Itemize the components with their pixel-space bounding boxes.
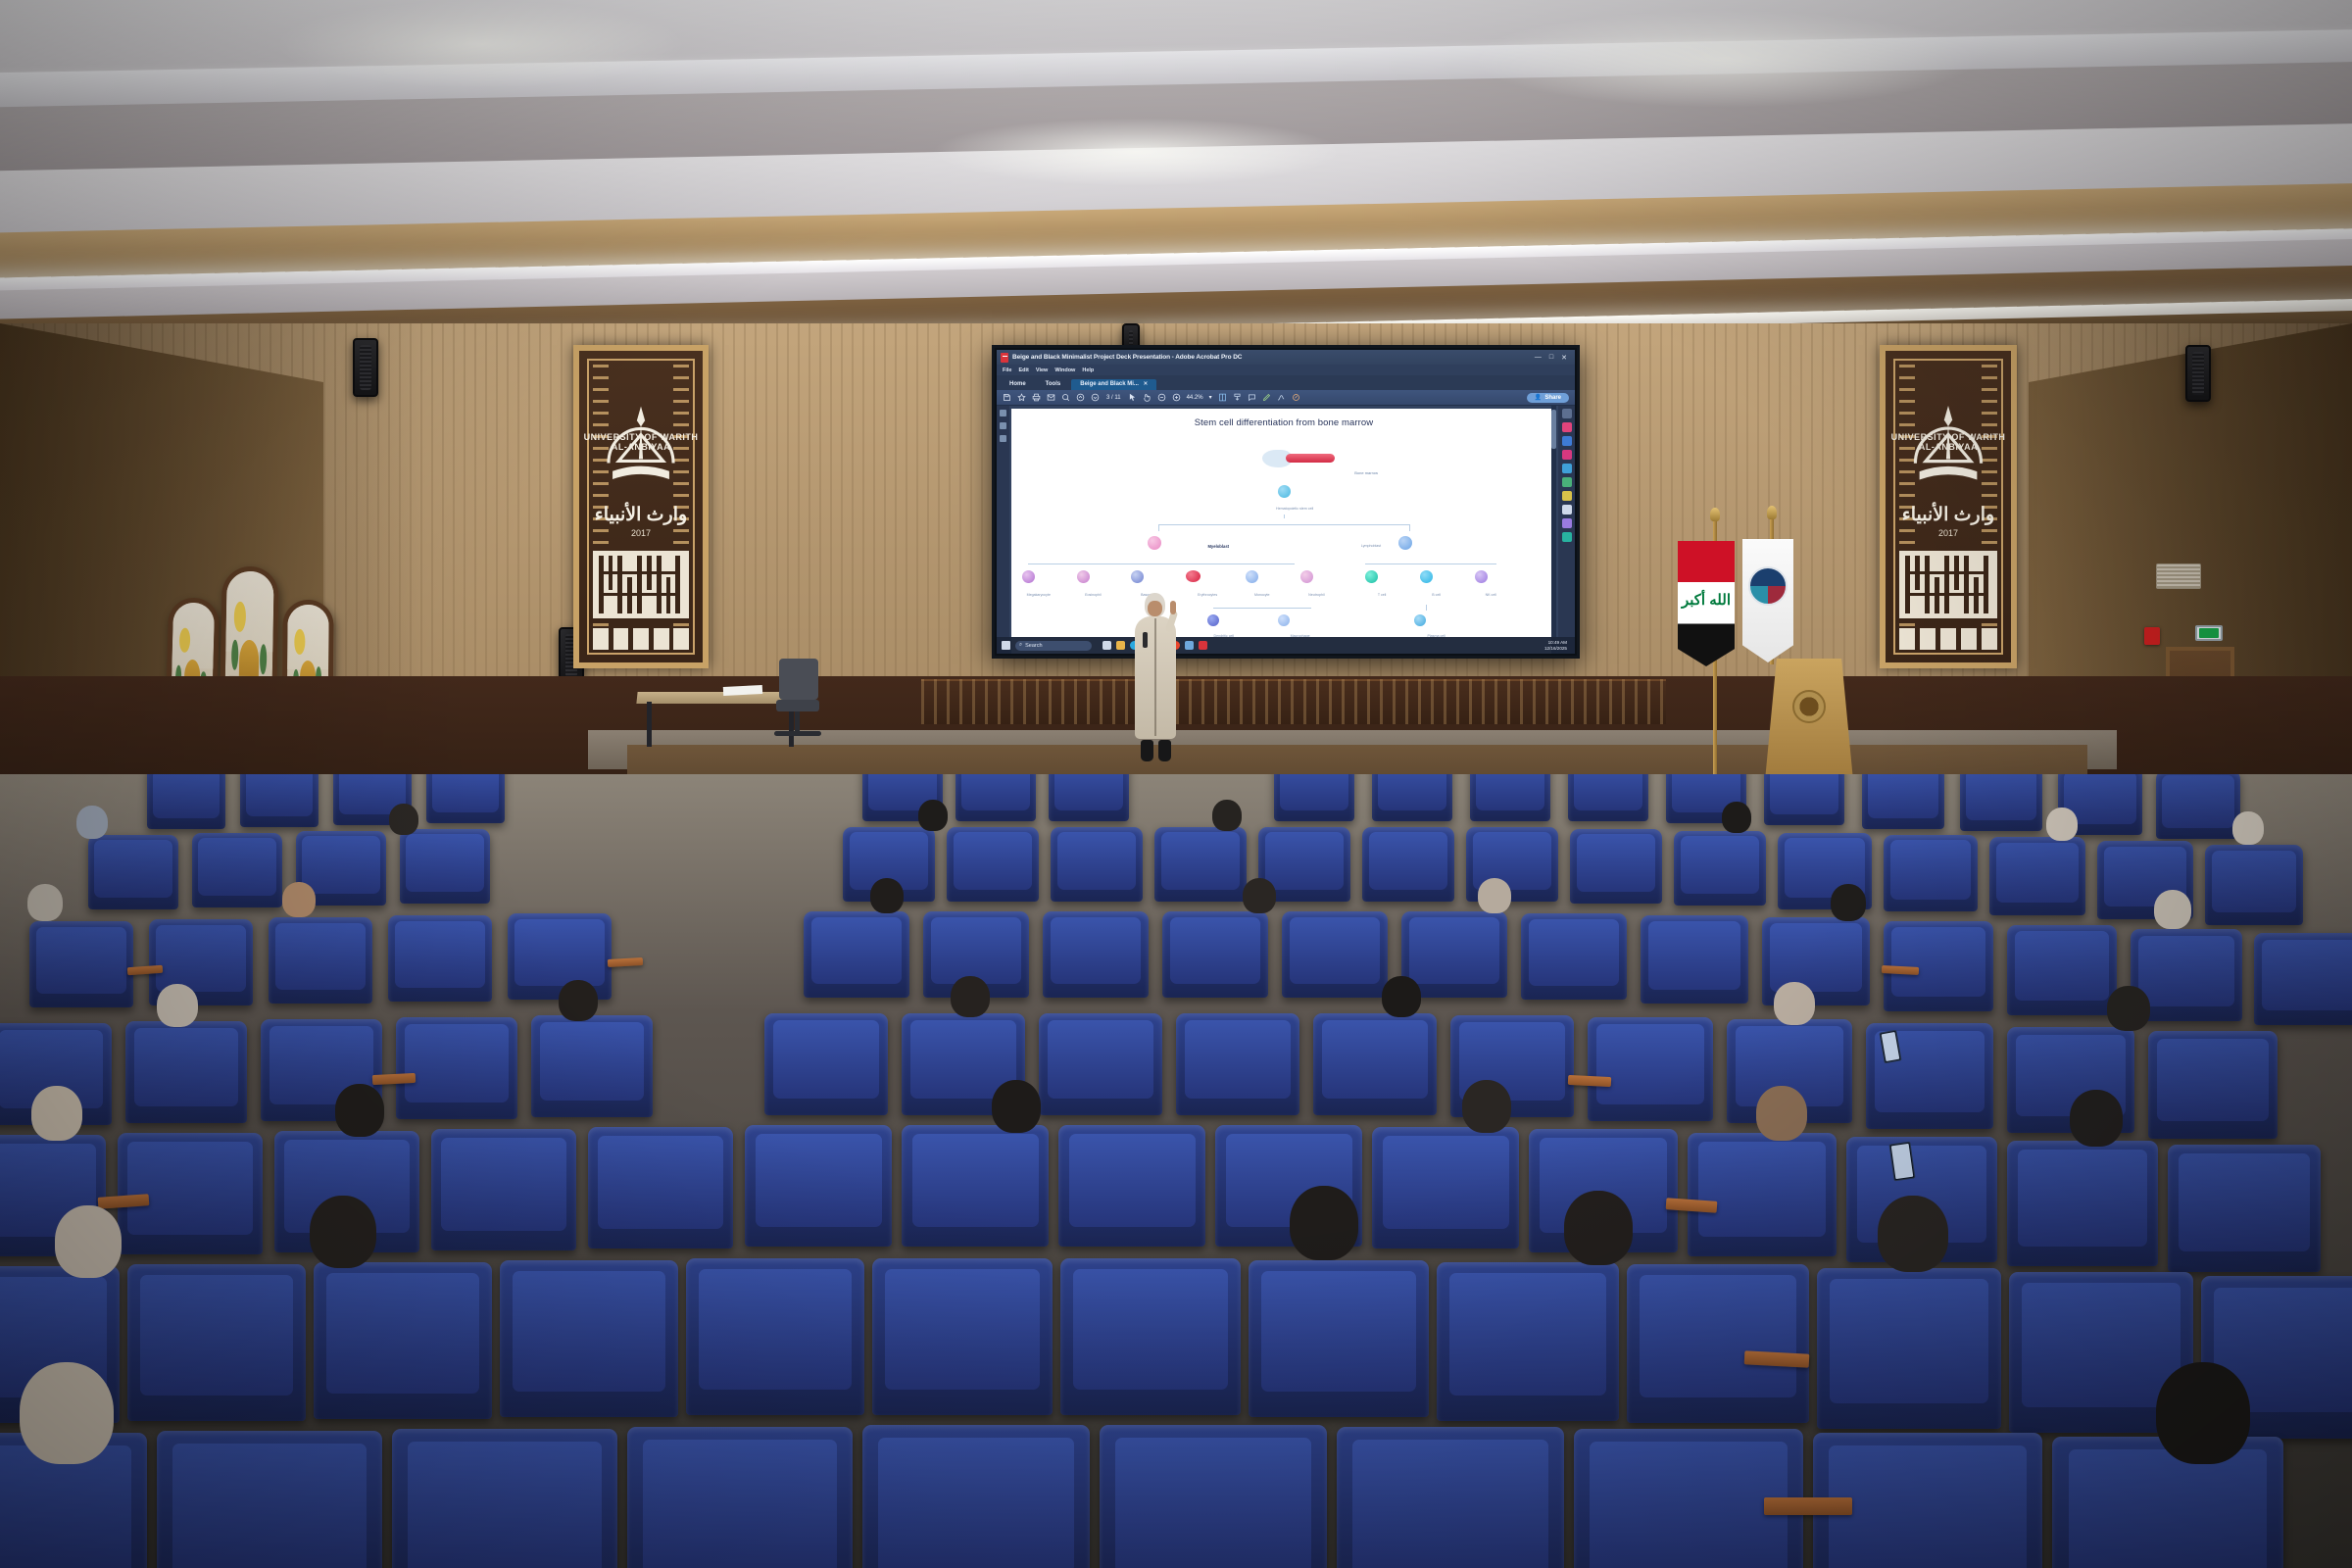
audience-member xyxy=(862,878,913,956)
neutrophil-node xyxy=(1300,570,1313,583)
fire-alarm-upper xyxy=(2144,627,2160,645)
university-year: 2017 xyxy=(579,528,703,538)
menu-view[interactable]: View xyxy=(1036,367,1048,373)
neutrophil-label: Neutrophil xyxy=(1308,593,1324,597)
audience-member xyxy=(2136,1362,2274,1568)
university-name-en-right: UNIVERSITY OF WARITH AL-ANBIYAA xyxy=(1886,432,2011,452)
fill-sign-icon[interactable] xyxy=(1562,518,1572,528)
kufic-calligraphy-panel-right xyxy=(1899,551,1997,619)
audience-member xyxy=(1313,774,1352,796)
seat[interactable] xyxy=(1337,1427,1564,1568)
myeloblast-label: Myeloblast xyxy=(1207,544,1229,549)
combine-files-icon[interactable] xyxy=(1562,450,1572,460)
print-icon[interactable] xyxy=(1032,393,1041,402)
monocyte-label: Monocyte xyxy=(1254,593,1270,597)
tab-document-label: Beige and Black Mi... xyxy=(1080,381,1139,387)
seat[interactable] xyxy=(396,1017,517,1119)
ceiling xyxy=(0,0,2352,338)
university-name-en: UNIVERSITY OF WARITH AL-ANBIYAA xyxy=(579,432,703,452)
seat[interactable] xyxy=(1470,774,1550,821)
seat[interactable] xyxy=(955,774,1036,821)
share-button[interactable]: 👤 Share xyxy=(1527,393,1569,403)
minimize-button[interactable]: — xyxy=(1535,354,1542,362)
audience-member xyxy=(1548,1191,1650,1362)
university-flag xyxy=(1742,539,1793,662)
panel-square-row-right xyxy=(1899,628,1997,650)
seat[interactable] xyxy=(1764,774,1844,825)
page-display-icon[interactable] xyxy=(1218,393,1227,402)
seat[interactable] xyxy=(1884,835,1978,911)
select-tool-icon[interactable] xyxy=(1128,393,1137,402)
audience-member xyxy=(1921,774,1960,800)
seat[interactable] xyxy=(1049,774,1129,821)
next-page-icon[interactable] xyxy=(1091,393,1100,402)
seat[interactable] xyxy=(588,1127,733,1249)
photos-icon[interactable] xyxy=(1185,641,1194,650)
audience-member xyxy=(2225,811,2272,882)
menu-file[interactable]: File xyxy=(1003,367,1011,373)
lymphoblast-node xyxy=(1398,536,1412,550)
audience-member xyxy=(39,1205,137,1372)
seat[interactable] xyxy=(500,1260,678,1417)
b-cell-label: B cell xyxy=(1432,593,1441,597)
search-input[interactable]: ⌕ Search xyxy=(1015,641,1092,651)
seat[interactable] xyxy=(686,1258,864,1415)
ac-vent xyxy=(2156,563,2201,589)
document-area: Stem cell differentiation from bone marr… xyxy=(997,406,1575,654)
audience-member xyxy=(294,1196,392,1362)
seat[interactable] xyxy=(947,827,1039,902)
tab-tools[interactable]: Tools xyxy=(1037,379,1070,390)
seat[interactable] xyxy=(157,1431,382,1568)
adobe-acrobat-window: Beige and Black Minimalist Project Deck … xyxy=(997,350,1575,654)
audience-member xyxy=(1744,1086,1819,1203)
eosinophil-node xyxy=(1077,570,1090,583)
zoom-dropdown-icon[interactable]: ▾ xyxy=(1209,394,1212,401)
podium-emblem-icon xyxy=(1792,690,1826,723)
t-cell-label: T cell xyxy=(1378,593,1387,597)
menu-bar: File Edit View Window Help xyxy=(997,365,1575,375)
seat[interactable] xyxy=(147,774,225,829)
tab-document[interactable]: Beige and Black Mi... ✕ xyxy=(1071,379,1156,390)
seat[interactable] xyxy=(1039,1013,1162,1115)
zoom-in-icon[interactable] xyxy=(1172,393,1181,402)
myeloblast-node xyxy=(1148,536,1161,550)
seat[interactable] xyxy=(1060,1258,1241,1415)
seat[interactable] xyxy=(240,774,318,827)
megakaryocyte-label: Megakaryocyte xyxy=(1027,593,1051,597)
audience-member xyxy=(911,800,956,868)
seat[interactable] xyxy=(1960,774,2042,831)
audience-member xyxy=(1607,774,1646,796)
clock[interactable]: 10:49 AM 12/16/2025 xyxy=(1544,640,1570,651)
protect-icon[interactable] xyxy=(1562,491,1572,501)
pdf-page[interactable]: Stem cell differentiation from bone marr… xyxy=(1011,409,1556,654)
eosinophil-label: Eosinophil xyxy=(1085,593,1102,597)
audience-member xyxy=(1274,1186,1376,1357)
document-scrollbar[interactable] xyxy=(1551,406,1556,654)
basophil-node xyxy=(1131,570,1144,583)
tools-right-rail xyxy=(1558,406,1575,654)
audience-member xyxy=(1205,800,1250,868)
sign-icon[interactable] xyxy=(1277,393,1286,402)
nk-cell-node xyxy=(1475,570,1488,583)
stamp-icon[interactable] xyxy=(1292,393,1300,402)
writing-tray[interactable] xyxy=(1764,1497,1852,1515)
menu-help[interactable]: Help xyxy=(1082,367,1094,373)
seat[interactable] xyxy=(1627,1264,1809,1423)
office-chair-back xyxy=(779,659,818,700)
edit-pdf-icon[interactable] xyxy=(1562,436,1572,446)
clock-time: 10:49 AM xyxy=(1548,640,1567,645)
windows-taskbar: ⌕ Search 10:49 AM xyxy=(997,637,1575,654)
bone-marrow-label: Bone marrow xyxy=(1354,470,1378,475)
university-name-ar-right: وارث الأنبياء xyxy=(1886,504,2011,526)
window-title: Beige and Black Minimalist Project Deck … xyxy=(1012,354,1242,361)
audience-member xyxy=(333,774,372,802)
audience-member xyxy=(2097,986,2160,1082)
seat[interactable] xyxy=(431,1129,576,1250)
seat[interactable] xyxy=(2254,933,2352,1025)
page-fit-icon[interactable] xyxy=(1233,393,1242,402)
email-icon[interactable] xyxy=(1047,393,1055,402)
lymphoblast-label: Lymphoblast xyxy=(1361,544,1381,548)
audience-member xyxy=(1470,878,1521,956)
audience-member xyxy=(2117,774,2156,804)
clock-date: 12/16/2025 xyxy=(1544,646,1567,651)
presenter xyxy=(1127,593,1186,779)
macrophage-node xyxy=(1278,614,1290,626)
audience-member xyxy=(941,976,1000,1068)
audience-member xyxy=(382,804,427,872)
seat[interactable] xyxy=(1570,829,1662,904)
page-indicator[interactable]: 3 / 11 xyxy=(1106,395,1121,401)
running-man-icon xyxy=(2199,628,2219,638)
panel-square-row xyxy=(593,628,689,650)
hand-tool-icon[interactable] xyxy=(1143,393,1151,402)
audience-member xyxy=(323,1084,396,1200)
start-icon[interactable] xyxy=(1002,641,1010,650)
seat[interactable] xyxy=(1362,827,1454,902)
redact-icon[interactable] xyxy=(1562,477,1572,487)
speaker-left-far xyxy=(353,338,378,397)
seat[interactable] xyxy=(1372,774,1452,821)
seat[interactable] xyxy=(1100,1425,1327,1568)
kufic-calligraphy-panel xyxy=(593,551,689,619)
seat[interactable] xyxy=(862,1425,1090,1568)
b-cell-node xyxy=(1420,570,1433,583)
nk-cell-label: NK cell xyxy=(1486,593,1496,597)
erythrocytes-label: Erythrocytes xyxy=(1198,593,1217,597)
audience-member xyxy=(1235,878,1286,956)
monocyte-node xyxy=(1246,570,1258,583)
save-icon[interactable] xyxy=(1003,393,1011,402)
seat[interactable] xyxy=(872,1258,1053,1415)
audience-member xyxy=(2058,1090,2134,1209)
seat[interactable] xyxy=(1043,911,1149,998)
iraq-flag: الله أكبر xyxy=(1678,541,1735,666)
toolbar: 3 / 11 44.2% ▾ 👤 Share xyxy=(997,390,1575,406)
bone-marrow-graphic xyxy=(1262,451,1335,466)
erythrocytes-node xyxy=(1186,570,1200,582)
auditorium-scene: UNIVERSITY OF WARITH AL-ANBIYAA وارث الأ… xyxy=(0,0,2352,1568)
seat[interactable] xyxy=(2168,1145,2321,1272)
tab-home-label: Home xyxy=(1009,381,1026,387)
share-icon: 👤 xyxy=(1535,394,1542,401)
audience-member xyxy=(549,980,608,1072)
hematopoietic-stem-cell-label: Hematopoietic stem cell xyxy=(1265,507,1324,511)
t-cell-node xyxy=(1365,570,1378,583)
window-title-bar: Beige and Black Minimalist Project Deck … xyxy=(997,350,1575,365)
seat[interactable] xyxy=(1588,1017,1713,1121)
projection-screen: Beige and Black Minimalist Project Deck … xyxy=(992,345,1580,659)
seat[interactable] xyxy=(192,833,282,907)
search-icon[interactable] xyxy=(1061,393,1070,402)
audience-member xyxy=(1715,802,1760,870)
audience-seating xyxy=(0,774,2352,1568)
microphone-icon xyxy=(1143,632,1148,648)
organize-pages-icon[interactable] xyxy=(1562,464,1572,473)
audience-member xyxy=(274,882,325,960)
create-pdf-icon[interactable] xyxy=(1562,422,1572,432)
seat[interactable] xyxy=(127,1264,306,1421)
seat[interactable] xyxy=(1521,913,1627,1000)
left-navigation-rail xyxy=(997,406,1009,654)
audience-member xyxy=(2038,808,2085,878)
tab-tools-label: Tools xyxy=(1046,381,1061,387)
seat[interactable] xyxy=(392,1429,617,1568)
office-chair-seat xyxy=(776,700,819,711)
seat[interactable] xyxy=(426,774,505,823)
star-icon[interactable] xyxy=(1017,393,1026,402)
document-tab-bar: Home Tools Beige and Black Mi... ✕ xyxy=(997,375,1575,390)
seat[interactable] xyxy=(1176,1013,1299,1115)
seat[interactable] xyxy=(627,1427,853,1568)
university-wall-panel-left: UNIVERSITY OF WARITH AL-ANBIYAA وارث الأ… xyxy=(573,345,709,668)
dendritic-cell-node xyxy=(1207,614,1219,626)
university-wall-panel-right: UNIVERSITY OF WARITH AL-ANBIYAA وارث الأ… xyxy=(1880,345,2017,668)
audience-member xyxy=(59,774,102,804)
audience-member xyxy=(892,774,931,798)
audience-member xyxy=(20,1086,94,1203)
speaker-right-far xyxy=(2185,345,2211,402)
menu-edit[interactable]: Edit xyxy=(1018,367,1028,373)
acrobat-taskbar-icon[interactable] xyxy=(1199,641,1207,650)
audience-member xyxy=(1862,1196,1966,1370)
megakaryocyte-node xyxy=(1022,570,1035,583)
university-flag-emblem-icon xyxy=(1748,566,1788,606)
comment-tool-icon[interactable] xyxy=(1562,505,1572,514)
search-placeholder: Search xyxy=(1025,643,1042,649)
exit-sign xyxy=(2195,625,2223,641)
audience-member xyxy=(1764,982,1825,1076)
task-view-icon[interactable] xyxy=(1102,641,1111,650)
seat[interactable] xyxy=(1058,1125,1205,1247)
zoom-level[interactable]: 44.2% xyxy=(1187,395,1203,401)
audience-member xyxy=(1372,976,1431,1068)
audience-member xyxy=(147,984,208,1076)
comment-icon[interactable] xyxy=(1248,393,1256,402)
seat[interactable] xyxy=(2148,1031,2278,1139)
share-label: Share xyxy=(1544,395,1561,401)
attachment-panel-icon[interactable] xyxy=(1000,435,1006,442)
taskbar-search-icon: ⌕ xyxy=(1019,642,1022,649)
university-name-ar: وارث الأنبياء xyxy=(579,504,703,526)
audience-member xyxy=(0,1362,137,1568)
export-pdf-icon[interactable] xyxy=(1562,409,1572,418)
acrobat-icon xyxy=(1001,353,1008,363)
audience-member xyxy=(69,806,118,874)
audience-member xyxy=(20,884,73,962)
file-explorer-icon[interactable] xyxy=(1116,641,1125,650)
highlight-icon[interactable] xyxy=(1262,393,1271,402)
seat[interactable] xyxy=(1051,827,1143,902)
podium xyxy=(1764,659,1854,791)
iraq-flag-takbir: الله أكبر xyxy=(1678,591,1735,609)
tab-close-icon[interactable]: ✕ xyxy=(1144,381,1149,387)
close-button[interactable]: ✕ xyxy=(1561,354,1567,362)
zoom-out-icon[interactable] xyxy=(1157,393,1166,402)
bookmark-panel-icon[interactable] xyxy=(1000,422,1006,429)
seat[interactable] xyxy=(388,915,492,1002)
menu-window[interactable]: Window xyxy=(1054,367,1075,373)
plasma-cell-node xyxy=(1414,614,1426,626)
seat[interactable] xyxy=(1641,915,1748,1004)
audience-member xyxy=(2146,890,2201,972)
audience-member xyxy=(1450,1080,1523,1196)
seat[interactable] xyxy=(764,1013,888,1115)
tab-home[interactable]: Home xyxy=(1001,379,1035,390)
previous-page-icon[interactable] xyxy=(1076,393,1085,402)
thumbnail-panel-icon[interactable] xyxy=(1000,410,1006,416)
hematopoietic-stem-cell-node xyxy=(1278,485,1291,498)
more-tools-icon[interactable] xyxy=(1562,532,1572,542)
audience-member xyxy=(980,1080,1053,1196)
audience-member xyxy=(1823,884,1876,964)
maximize-button[interactable]: □ xyxy=(1549,354,1553,362)
stage-wood-panel xyxy=(921,679,1666,724)
seat[interactable] xyxy=(745,1125,892,1247)
slide-title: Stem cell differentiation from bone marr… xyxy=(1011,417,1556,428)
university-year-right: 2017 xyxy=(1886,528,2011,538)
